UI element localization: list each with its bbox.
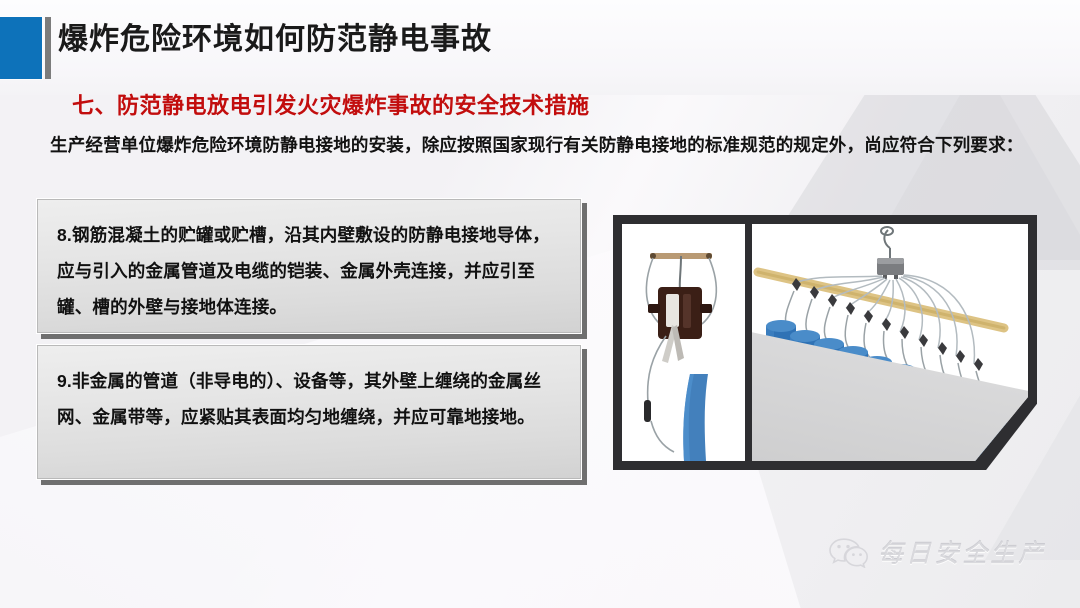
figure-panel-divider xyxy=(745,224,752,461)
slide-canvas: 爆炸危险环境如何防范静电事故 七、防范静电放电引发火灾爆炸事故的安全技术措施 生… xyxy=(0,0,1080,608)
blue-square-accent-icon xyxy=(0,17,42,79)
static-grounding-illustration xyxy=(613,215,1037,470)
wechat-icon xyxy=(828,536,868,568)
intro-paragraph: 生产经营单位爆炸危险环境防静电接地的安装，除应按照国家现行有关防静电接地的标准规… xyxy=(50,130,1060,161)
slide-header: 爆炸危险环境如何防范静电事故 xyxy=(0,0,1080,86)
content-box-item-9: 9.非金属的管道（非导电的）、设备等，其外壁上缠绕的金属丝网、金属带等，应紧贴其… xyxy=(36,344,582,480)
watermark-text: 每日安全生产 xyxy=(878,534,1046,570)
figure-right-photo xyxy=(752,224,1028,461)
content-box-item-8: 8.钢筋混凝土的贮罐或贮槽，沿其内壁敷设的防静电接地导体，应与引入的金属管道及电… xyxy=(36,198,582,334)
page-title: 爆炸危险环境如何防范静电事故 xyxy=(58,20,492,60)
bonding-clamp-drawing xyxy=(622,224,745,461)
figure-left-photo xyxy=(622,224,745,461)
watermark: 每日安全生产 xyxy=(828,534,1046,570)
grey-bar-accent-icon xyxy=(45,17,51,79)
figure-inner xyxy=(622,224,1028,461)
section-heading: 七、防范静电放电引发火灾爆炸事故的安全技术措施 xyxy=(72,88,590,120)
